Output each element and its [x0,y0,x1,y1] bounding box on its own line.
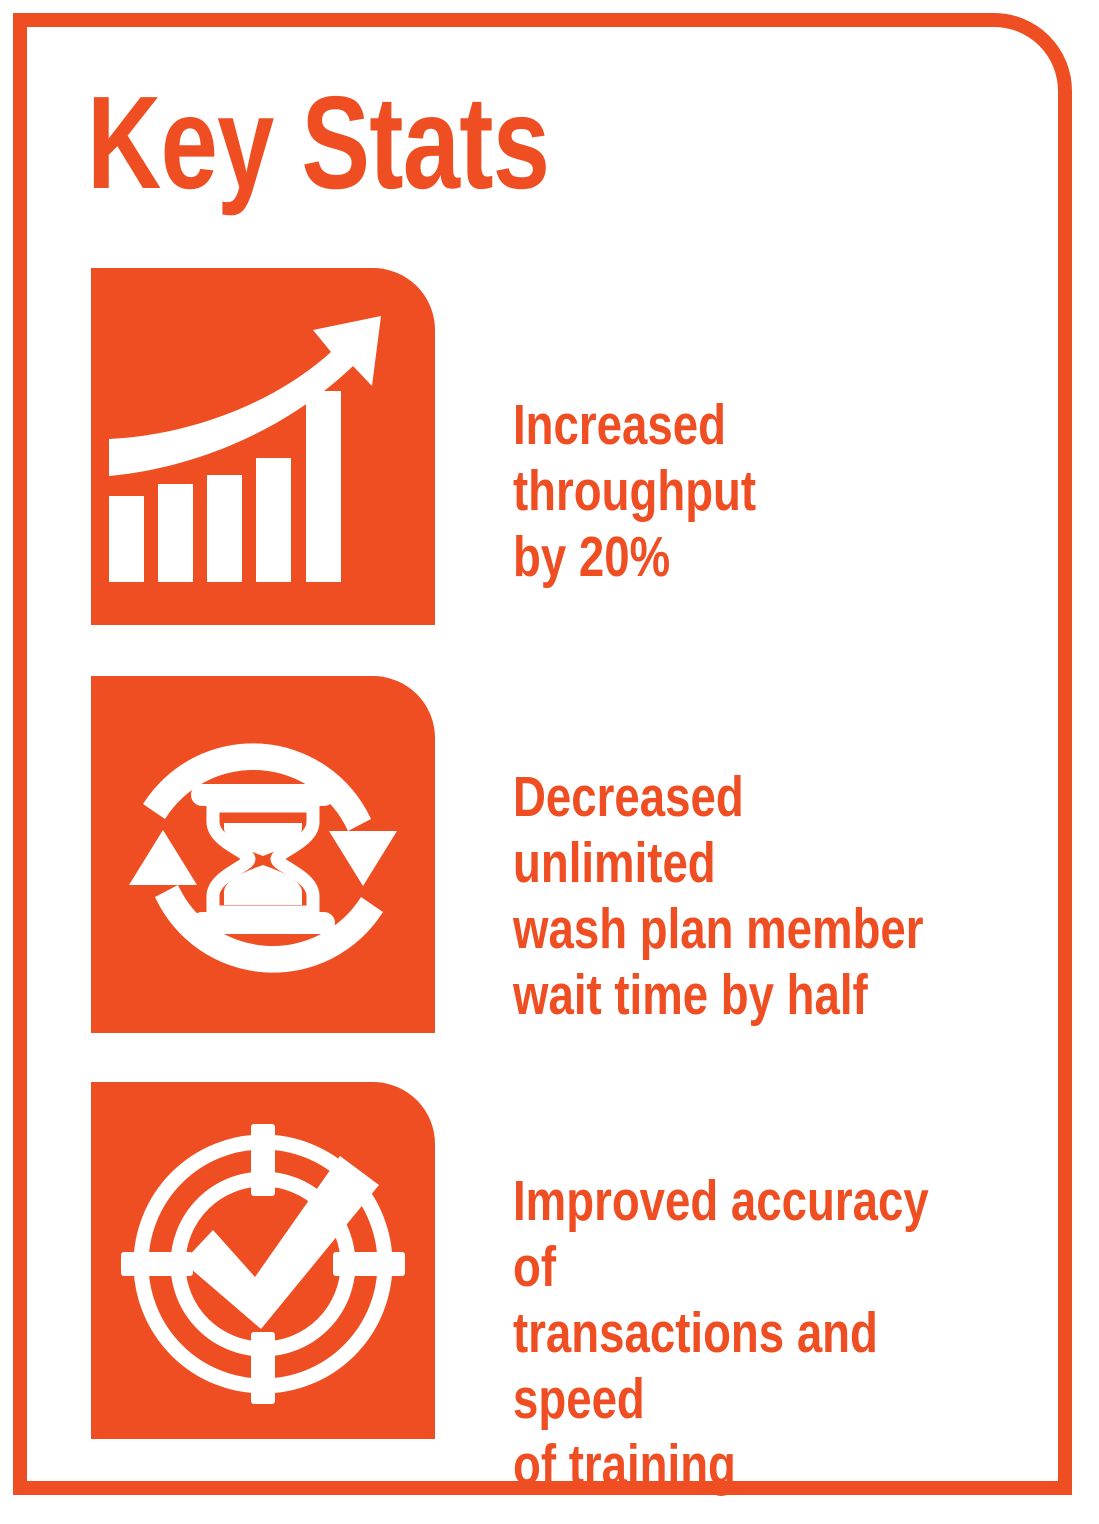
hourglass-refresh-icon [91,676,435,1033]
stat-text: Improved accuracy of transactions and sp… [513,1168,945,1499]
stat-text: Increased throughput by 20% [513,392,945,590]
key-stats-card: Key Stats Increased throughput by 20% [13,13,1072,1495]
target-checkmark-icon [91,1082,435,1439]
growth-chart-arrow-icon [91,268,435,625]
stat-text: Decreased unlimited wash plan member wai… [513,764,945,1028]
page-title: Key Stats [87,77,549,209]
